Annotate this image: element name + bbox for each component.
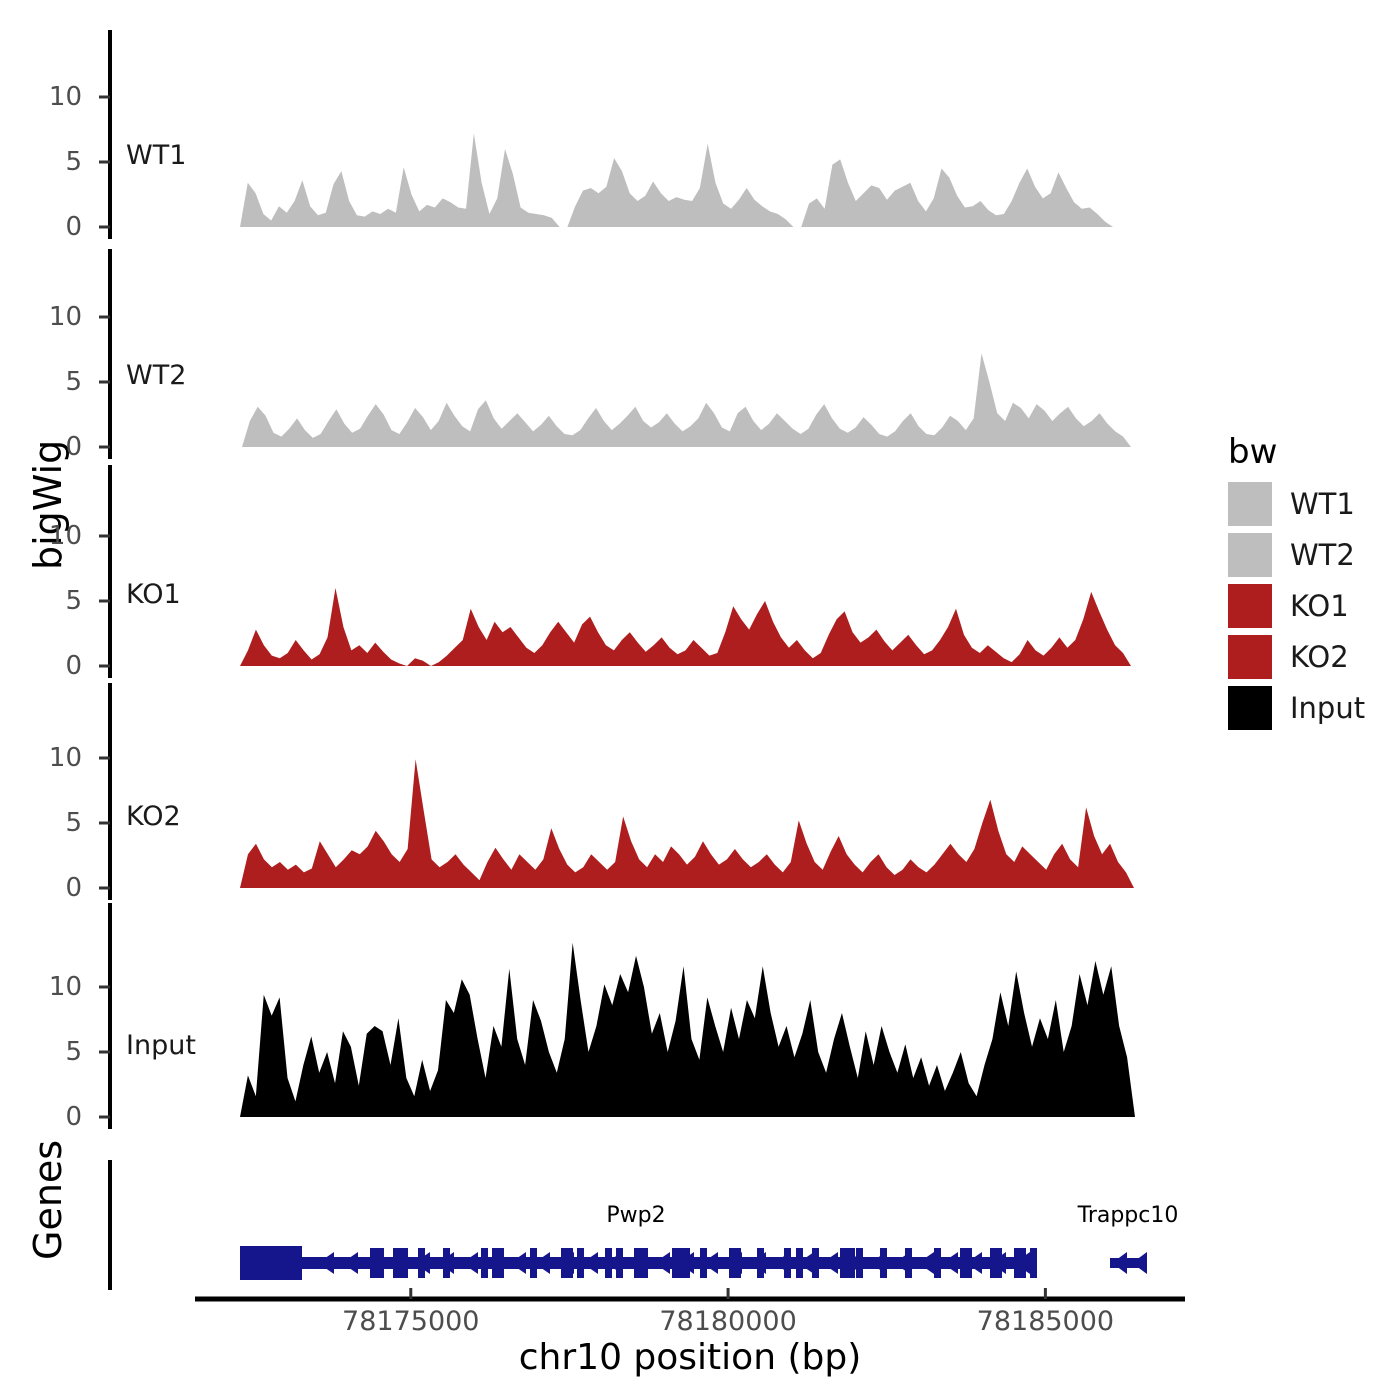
y-tick-label: 5 — [22, 588, 82, 614]
y-tick-label: 10 — [22, 523, 82, 549]
legend-label: KO2 — [1290, 640, 1349, 674]
legend-swatch-icon — [1228, 482, 1272, 526]
strand-left-arrow-icon — [822, 1252, 838, 1274]
legend-label: KO1 — [1290, 589, 1349, 623]
gene-label-trappc10: Trappc10 — [998, 1205, 1258, 1227]
y-tick-label: 10 — [22, 974, 82, 1000]
y-tick-label: 0 — [22, 434, 82, 460]
legend-item-input[interactable]: Input — [1228, 686, 1398, 735]
y-tick-label: 5 — [22, 369, 82, 395]
strand-left-arrow-icon — [774, 1252, 790, 1274]
gene-exon — [934, 1248, 941, 1278]
strand-left-arrow-icon — [942, 1252, 958, 1274]
panel-label-ko2: KO2 — [126, 801, 181, 832]
x-tick-label: 78185000 — [935, 1308, 1155, 1335]
panel-label-input: Input — [126, 1030, 196, 1061]
y-axis-title-genes: Genes — [18, 1150, 78, 1310]
signal-area-ko2 — [240, 759, 1134, 888]
legend-label: WT1 — [1290, 487, 1355, 521]
y-tick-label: 0 — [22, 214, 82, 240]
x-axis-title: chr10 position (bp) — [190, 1337, 1190, 1378]
plot-canvas — [0, 0, 1400, 1400]
strand-left-arrow-icon — [510, 1252, 526, 1274]
y-tick-label: 0 — [22, 653, 82, 679]
x-tick-label: 78180000 — [618, 1308, 838, 1335]
strand-left-arrow-icon — [1112, 1252, 1127, 1274]
signal-area-input — [240, 943, 1135, 1117]
signal-area-wt1 — [240, 133, 1113, 227]
strand-left-arrow-icon — [318, 1252, 334, 1274]
legend-title: bw — [1228, 432, 1277, 472]
strand-left-arrow-icon — [582, 1252, 598, 1274]
y-tick-label: 0 — [22, 1104, 82, 1130]
strand-left-arrow-icon — [1132, 1252, 1147, 1274]
strand-left-arrow-icon — [918, 1252, 934, 1274]
panel-label-wt1: WT1 — [126, 140, 186, 171]
y-tick-label: 10 — [22, 304, 82, 330]
genome-browser-figure: bigWig Genes 05100510051005100510 WT1WT2… — [0, 0, 1400, 1400]
legend-label: WT2 — [1290, 538, 1355, 572]
x-tick-label: 78175000 — [301, 1308, 521, 1335]
strand-left-arrow-icon — [894, 1252, 910, 1274]
y-tick-label: 5 — [22, 149, 82, 175]
signal-area-wt2 — [242, 353, 1131, 447]
legend-swatch-icon — [1228, 533, 1272, 577]
panel-label-ko1: KO1 — [126, 579, 181, 610]
gene-label-pwp2: Pwp2 — [506, 1205, 766, 1227]
legend-item-ko1[interactable]: KO1 — [1228, 584, 1398, 633]
y-tick-label: 5 — [22, 810, 82, 836]
strand-left-arrow-icon — [654, 1252, 670, 1274]
strand-left-arrow-icon — [462, 1252, 478, 1274]
gene-exon — [240, 1246, 302, 1280]
legend-item-wt2[interactable]: WT2 — [1228, 533, 1398, 582]
y-tick-label: 5 — [22, 1039, 82, 1065]
y-tick-label: 0 — [22, 875, 82, 901]
legend-item-wt1[interactable]: WT1 — [1228, 482, 1398, 531]
y-tick-label: 10 — [22, 745, 82, 771]
strand-left-arrow-icon — [342, 1252, 358, 1274]
legend-label: Input — [1290, 691, 1365, 725]
legend-swatch-icon — [1228, 584, 1272, 628]
legend-swatch-icon — [1228, 686, 1272, 730]
signal-area-ko1 — [240, 588, 1131, 666]
legend-item-ko2[interactable]: KO2 — [1228, 635, 1398, 684]
strand-left-arrow-icon — [870, 1252, 886, 1274]
panel-label-wt2: WT2 — [126, 360, 186, 391]
y-tick-label: 10 — [22, 84, 82, 110]
gene-exon — [1030, 1248, 1037, 1278]
legend-swatch-icon — [1228, 635, 1272, 679]
